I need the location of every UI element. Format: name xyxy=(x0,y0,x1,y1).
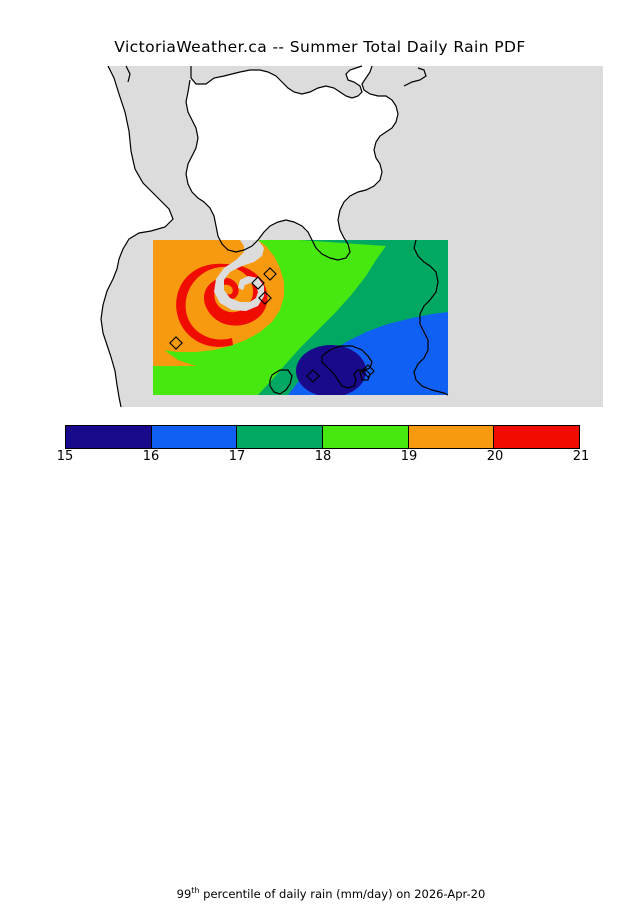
colorbar-caption: 99th percentile of daily rain (mm/day) o… xyxy=(0,872,640,915)
map-canvas xyxy=(0,0,640,480)
contour-fill-layer xyxy=(153,240,448,397)
colorbar-tick-17: 17 xyxy=(229,449,246,464)
weather-map-page: VictoriaWeather.ca -- Summer Total Daily… xyxy=(0,0,640,480)
colorbar-tick-15: 15 xyxy=(57,449,74,464)
colorbar-tick-18: 18 xyxy=(315,449,332,464)
colorbar-segment-16-17[interactable] xyxy=(152,426,238,448)
colorbar-segment-15-16[interactable] xyxy=(66,426,152,448)
colorbar[interactable] xyxy=(65,425,580,449)
caption-rest: percentile of daily rain (mm/day) on 202… xyxy=(199,887,485,901)
colorbar-tick-16: 16 xyxy=(143,449,160,464)
colorbar-segment-17-18[interactable] xyxy=(237,426,323,448)
colorbar-section: 15161718192021 99th percentile of daily … xyxy=(0,420,640,480)
caption-percentile-suffix: th xyxy=(191,886,199,895)
colorbar-tick-20: 20 xyxy=(487,449,504,464)
colorbar-segment-18-19[interactable] xyxy=(323,426,409,448)
colorbar-tick-labels: 15161718192021 xyxy=(0,449,640,465)
caption-percentile-number: 99 xyxy=(177,887,192,901)
colorbar-tick-21: 21 xyxy=(573,449,590,464)
colorbar-segment-20-21[interactable] xyxy=(494,426,579,448)
colorbar-segment-19-20[interactable] xyxy=(409,426,495,448)
colorbar-tick-19: 19 xyxy=(401,449,418,464)
